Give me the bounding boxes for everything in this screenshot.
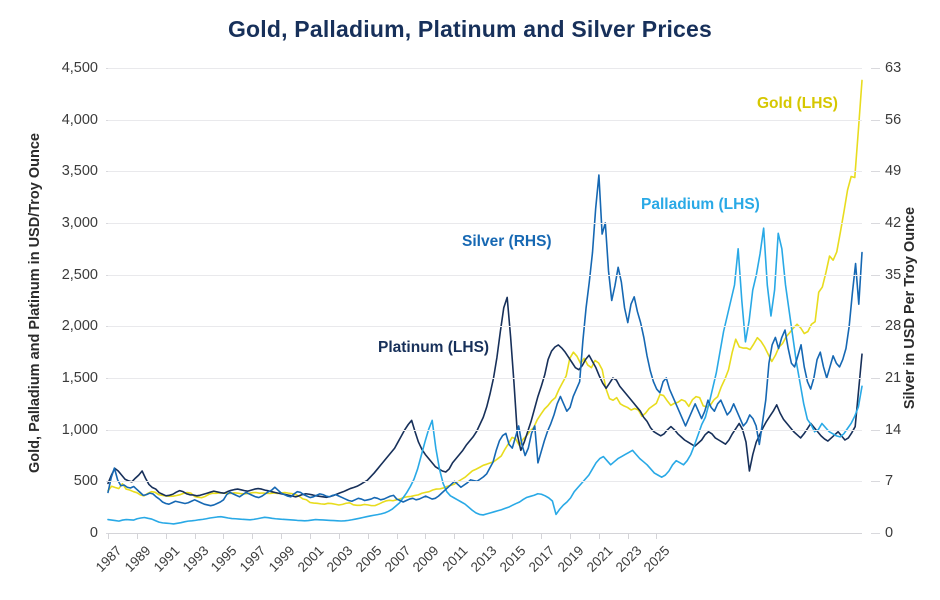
y-axis-right-tick-mark bbox=[871, 275, 880, 276]
x-axis-tick-mark bbox=[454, 533, 455, 539]
y-axis-left-tick-label: 500 bbox=[74, 473, 98, 489]
y-axis-left-tick-label: 1,500 bbox=[62, 370, 98, 386]
y-axis-right-tick-mark bbox=[871, 326, 880, 327]
y-axis-right-tick-label: 42 bbox=[885, 215, 901, 231]
gridline bbox=[108, 68, 862, 69]
x-axis-tick-mark bbox=[281, 533, 282, 539]
y-axis-right-tick-mark bbox=[871, 481, 880, 482]
y-axis-left-tick-label: 1,000 bbox=[62, 422, 98, 438]
y-axis-left-tick-label: 2,500 bbox=[62, 267, 98, 283]
x-axis-tick-mark bbox=[570, 533, 571, 539]
x-axis-tick-mark bbox=[397, 533, 398, 539]
x-axis-tick-mark bbox=[223, 533, 224, 539]
y-axis-right-tick-label: 21 bbox=[885, 370, 901, 386]
x-axis-tick-mark bbox=[310, 533, 311, 539]
y-axis-right-tick-mark bbox=[871, 171, 880, 172]
y-axis-right-tick-mark bbox=[871, 378, 880, 379]
y-axis-right-tick-label: 49 bbox=[885, 163, 901, 179]
series-lines bbox=[108, 68, 862, 533]
series-label-platinum: Platinum (LHS) bbox=[378, 339, 489, 357]
gridline bbox=[108, 430, 862, 431]
x-axis-tick-mark bbox=[656, 533, 657, 539]
x-axis-tick-mark bbox=[628, 533, 629, 539]
y-axis-right-tick-label: 56 bbox=[885, 112, 901, 128]
series-line-gold bbox=[108, 80, 862, 505]
x-axis-line bbox=[108, 533, 862, 534]
series-line-palladium bbox=[108, 228, 862, 524]
x-axis-tick-mark bbox=[368, 533, 369, 539]
x-axis-tick-mark bbox=[599, 533, 600, 539]
gridline bbox=[108, 171, 862, 172]
plot-area bbox=[108, 68, 862, 533]
y-axis-right-tick-mark bbox=[871, 120, 880, 121]
gridline bbox=[108, 378, 862, 379]
series-label-silver: Silver (RHS) bbox=[462, 233, 552, 251]
series-line-platinum bbox=[108, 297, 862, 497]
series-label-palladium: Palladium (LHS) bbox=[641, 196, 760, 214]
series-label-gold: Gold (LHS) bbox=[757, 95, 838, 113]
y-axis-right-tick-label: 28 bbox=[885, 318, 901, 334]
x-axis-tick-mark bbox=[512, 533, 513, 539]
y-axis-right-tick-label: 7 bbox=[885, 473, 893, 489]
chart-root: Gold, Palladium, Platinum and Silver Pri… bbox=[0, 0, 940, 600]
y-axis-right-tick-label: 14 bbox=[885, 422, 901, 438]
y-axis-left-tick-label: 3,500 bbox=[62, 163, 98, 179]
gridline bbox=[108, 223, 862, 224]
y-axis-left-ticks: 05001,0001,5002,0002,5003,0003,5004,0004… bbox=[28, 68, 98, 533]
y-axis-left-tick-label: 0 bbox=[90, 525, 98, 541]
y-axis-left-tick-label: 2,000 bbox=[62, 318, 98, 334]
y-axis-left-tick-label: 4,000 bbox=[62, 112, 98, 128]
y-axis-right-tick-label: 63 bbox=[885, 60, 901, 76]
x-axis-tick-mark bbox=[339, 533, 340, 539]
y-axis-left-tick-label: 3,000 bbox=[62, 215, 98, 231]
x-axis-tick-mark bbox=[108, 533, 109, 539]
gridline bbox=[108, 326, 862, 327]
x-axis-tick-mark bbox=[137, 533, 138, 539]
gridline bbox=[108, 275, 862, 276]
y-axis-right-tick-mark bbox=[871, 68, 880, 69]
y-axis-right-tick-mark bbox=[871, 430, 880, 431]
x-axis-tick-mark bbox=[425, 533, 426, 539]
gridline bbox=[108, 481, 862, 482]
page-title: Gold, Palladium, Platinum and Silver Pri… bbox=[0, 16, 940, 43]
x-axis-tick-mark bbox=[483, 533, 484, 539]
gridline bbox=[108, 120, 862, 121]
x-axis-tick-mark bbox=[166, 533, 167, 539]
x-axis-tick-mark bbox=[541, 533, 542, 539]
y-axis-right-tick-label: 35 bbox=[885, 267, 901, 283]
x-axis-tick-mark bbox=[195, 533, 196, 539]
y-axis-right-tick-label: 0 bbox=[885, 525, 893, 541]
y-axis-left-tick-label: 4,500 bbox=[62, 60, 98, 76]
x-axis-tick-mark bbox=[252, 533, 253, 539]
y-axis-right-tick-mark bbox=[871, 223, 880, 224]
y-axis-right-tick-mark bbox=[871, 533, 880, 534]
y-axis-right-ticks: 071421283542495663 bbox=[872, 68, 912, 533]
